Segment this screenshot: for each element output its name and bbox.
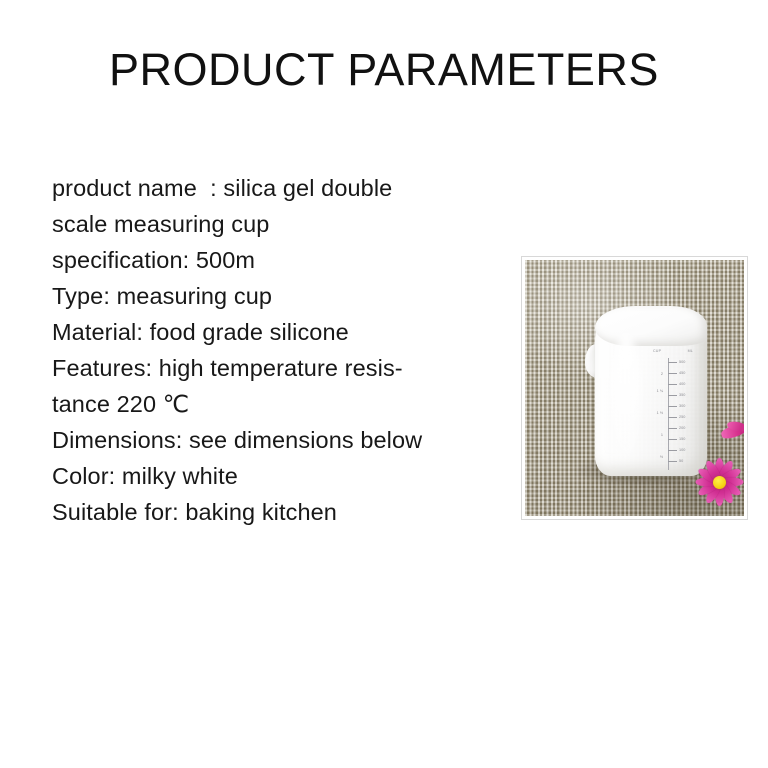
silicone-measuring-cup: CUP ML 500 2 450 400 1 ¾ 350 300 1 ½ 250: [585, 300, 707, 476]
spec-line-dimensions: Dimensions: see dimensions below: [52, 422, 502, 458]
spec-line-material: Material: food grade silicone: [52, 314, 502, 350]
spec-line-color: Color: milky white: [52, 458, 502, 494]
cup-highlight: [611, 334, 641, 458]
spec-line-type: Type: measuring cup: [52, 278, 502, 314]
scale-tick: [668, 417, 677, 418]
flower-center: [713, 476, 726, 489]
page-title: PRODUCT PARAMETERS: [0, 44, 768, 96]
scale-tick: [668, 384, 677, 385]
scale-label-ml: 300: [679, 404, 685, 408]
scale-tick: [668, 428, 677, 429]
scale-tick: [668, 450, 677, 451]
product-parameters-list: product name : silica gel double scale m…: [52, 170, 502, 530]
spec-line-specification: specification: 500m: [52, 242, 502, 278]
scale-label-ml: 350: [679, 393, 685, 397]
scale-headers: CUP ML: [653, 349, 693, 353]
scale-label-ml: 50: [679, 459, 683, 463]
scale-label-ml: 500: [679, 360, 685, 364]
scale-label-ml: 250: [679, 415, 685, 419]
scale-tick: [668, 373, 677, 374]
spec-line-features-cont: tance 220 ℃: [52, 386, 502, 422]
pink-flower: [693, 456, 744, 508]
scale-tick: [668, 406, 677, 407]
scale-label-cup: 2: [661, 372, 663, 376]
product-photo: CUP ML 500 2 450 400 1 ¾ 350 300 1 ½ 250: [525, 260, 744, 516]
scale-axis-line: [668, 358, 669, 470]
product-photo-frame: CUP ML 500 2 450 400 1 ¾ 350 300 1 ½ 250: [521, 256, 748, 520]
scale-tick: [668, 461, 677, 462]
scale-header-cup: CUP: [653, 349, 661, 353]
measurement-scale: CUP ML 500 2 450 400 1 ¾ 350 300 1 ½ 250: [653, 358, 693, 470]
scale-label-ml: 450: [679, 371, 685, 375]
scale-header-ml: ML: [688, 349, 693, 353]
scale-label-cup: 1: [661, 433, 663, 437]
scale-tick: [668, 395, 677, 396]
scale-label-cup: ½: [660, 455, 663, 459]
spec-line-features: Features: high temperature resis-: [52, 350, 502, 386]
scale-label-cup: 1 ¾: [657, 389, 663, 393]
scale-label-ml: 100: [679, 448, 685, 452]
scale-label-ml: 150: [679, 437, 685, 441]
scale-label-ml: 400: [679, 382, 685, 386]
scale-tick: [668, 439, 677, 440]
cup-rim: [595, 306, 707, 346]
scale-tick: [668, 362, 677, 363]
scale-label-cup: 1 ½: [657, 411, 663, 415]
spec-line-suitable-for: Suitable for: baking kitchen: [52, 494, 502, 530]
spec-line-product-name: product name : silica gel double: [52, 170, 502, 206]
scale-label-ml: 200: [679, 426, 685, 430]
spec-line-product-name-cont: scale measuring cup: [52, 206, 502, 242]
flower-bud: [721, 422, 744, 440]
